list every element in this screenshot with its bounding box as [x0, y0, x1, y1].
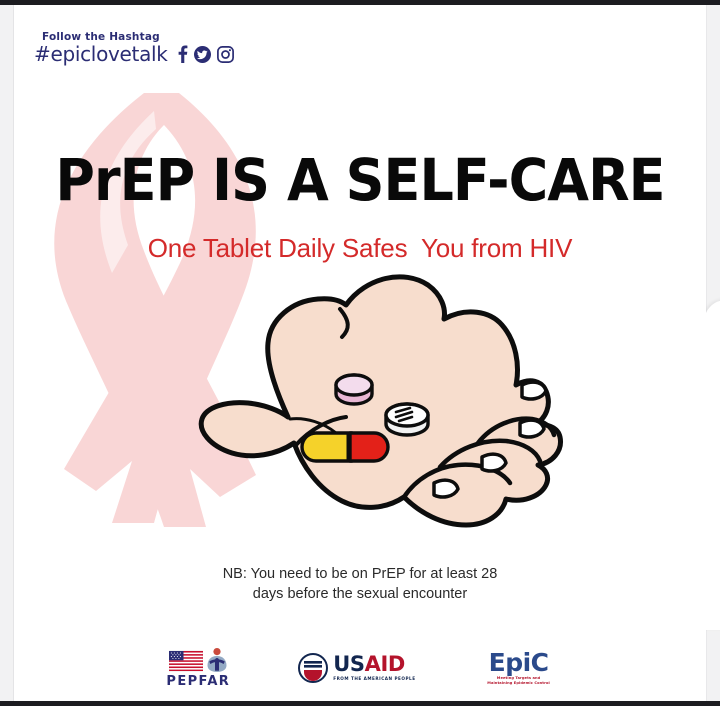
usaid-aid: AID: [365, 652, 405, 676]
pepfar-logo: PEPFAR: [166, 647, 230, 689]
poster-content: Follow the Hashtag #epiclovetalk: [14, 5, 706, 701]
us-flag-icon: [169, 649, 203, 673]
pink-round-tablet: [336, 375, 372, 404]
logo-strip: PEPFAR USAID FROM THE AMERICAN PEOPLE Ep…: [14, 641, 706, 695]
usaid-us: US: [333, 652, 364, 676]
left-gutter: [0, 5, 14, 701]
epic-tagline: Meeting Targets and Maintaining Epidemic…: [484, 676, 554, 687]
usaid-seal-icon: [298, 653, 328, 683]
pepfar-figure-icon: [206, 647, 228, 673]
usaid-logo: USAID FROM THE AMERICAN PEOPLE: [298, 653, 415, 683]
note-text: NB: You need to be on PrEP for at least …: [14, 565, 706, 604]
usaid-wordmark: USAID: [333, 654, 415, 675]
epic-logo: EpiC Meeting Targets and Maintaining Epi…: [484, 650, 554, 687]
hand-shape: [201, 277, 560, 525]
white-scored-tablet: [386, 404, 428, 435]
adjacent-card-edge: [704, 300, 720, 630]
usaid-tagline: FROM THE AMERICAN PEOPLE: [333, 677, 415, 681]
subheadline: One Tablet Daily Safes You from HIV: [14, 233, 706, 264]
poster-canvas: Follow the Hashtag #epiclovetalk: [0, 0, 720, 706]
open-palm-with-pills-illustration: [190, 267, 610, 567]
note-line-2: days before the sexual encounter: [14, 585, 706, 605]
usaid-text: USAID FROM THE AMERICAN PEOPLE: [333, 654, 415, 681]
social-icons: [177, 45, 234, 63]
twitter-icon[interactable]: [194, 46, 211, 63]
top-edge-bar: [0, 0, 720, 5]
header: Follow the Hashtag #epiclovetalk: [34, 31, 234, 64]
bottom-edge-bar: [0, 701, 720, 706]
instagram-icon[interactable]: [217, 46, 234, 63]
hashtag-text: #epiclovetalk: [34, 44, 168, 64]
pepfar-mark: [169, 647, 228, 673]
epic-wordmark: EpiC: [489, 650, 549, 675]
hashtag-row: #epiclovetalk: [34, 44, 234, 64]
yellow-red-capsule: [302, 433, 388, 461]
facebook-icon[interactable]: [177, 45, 188, 63]
pepfar-wordmark: PEPFAR: [166, 674, 230, 689]
note-line-1: NB: You need to be on PrEP for at least …: [14, 565, 706, 585]
headline: PrEP IS A SELF-CARE: [38, 151, 682, 209]
